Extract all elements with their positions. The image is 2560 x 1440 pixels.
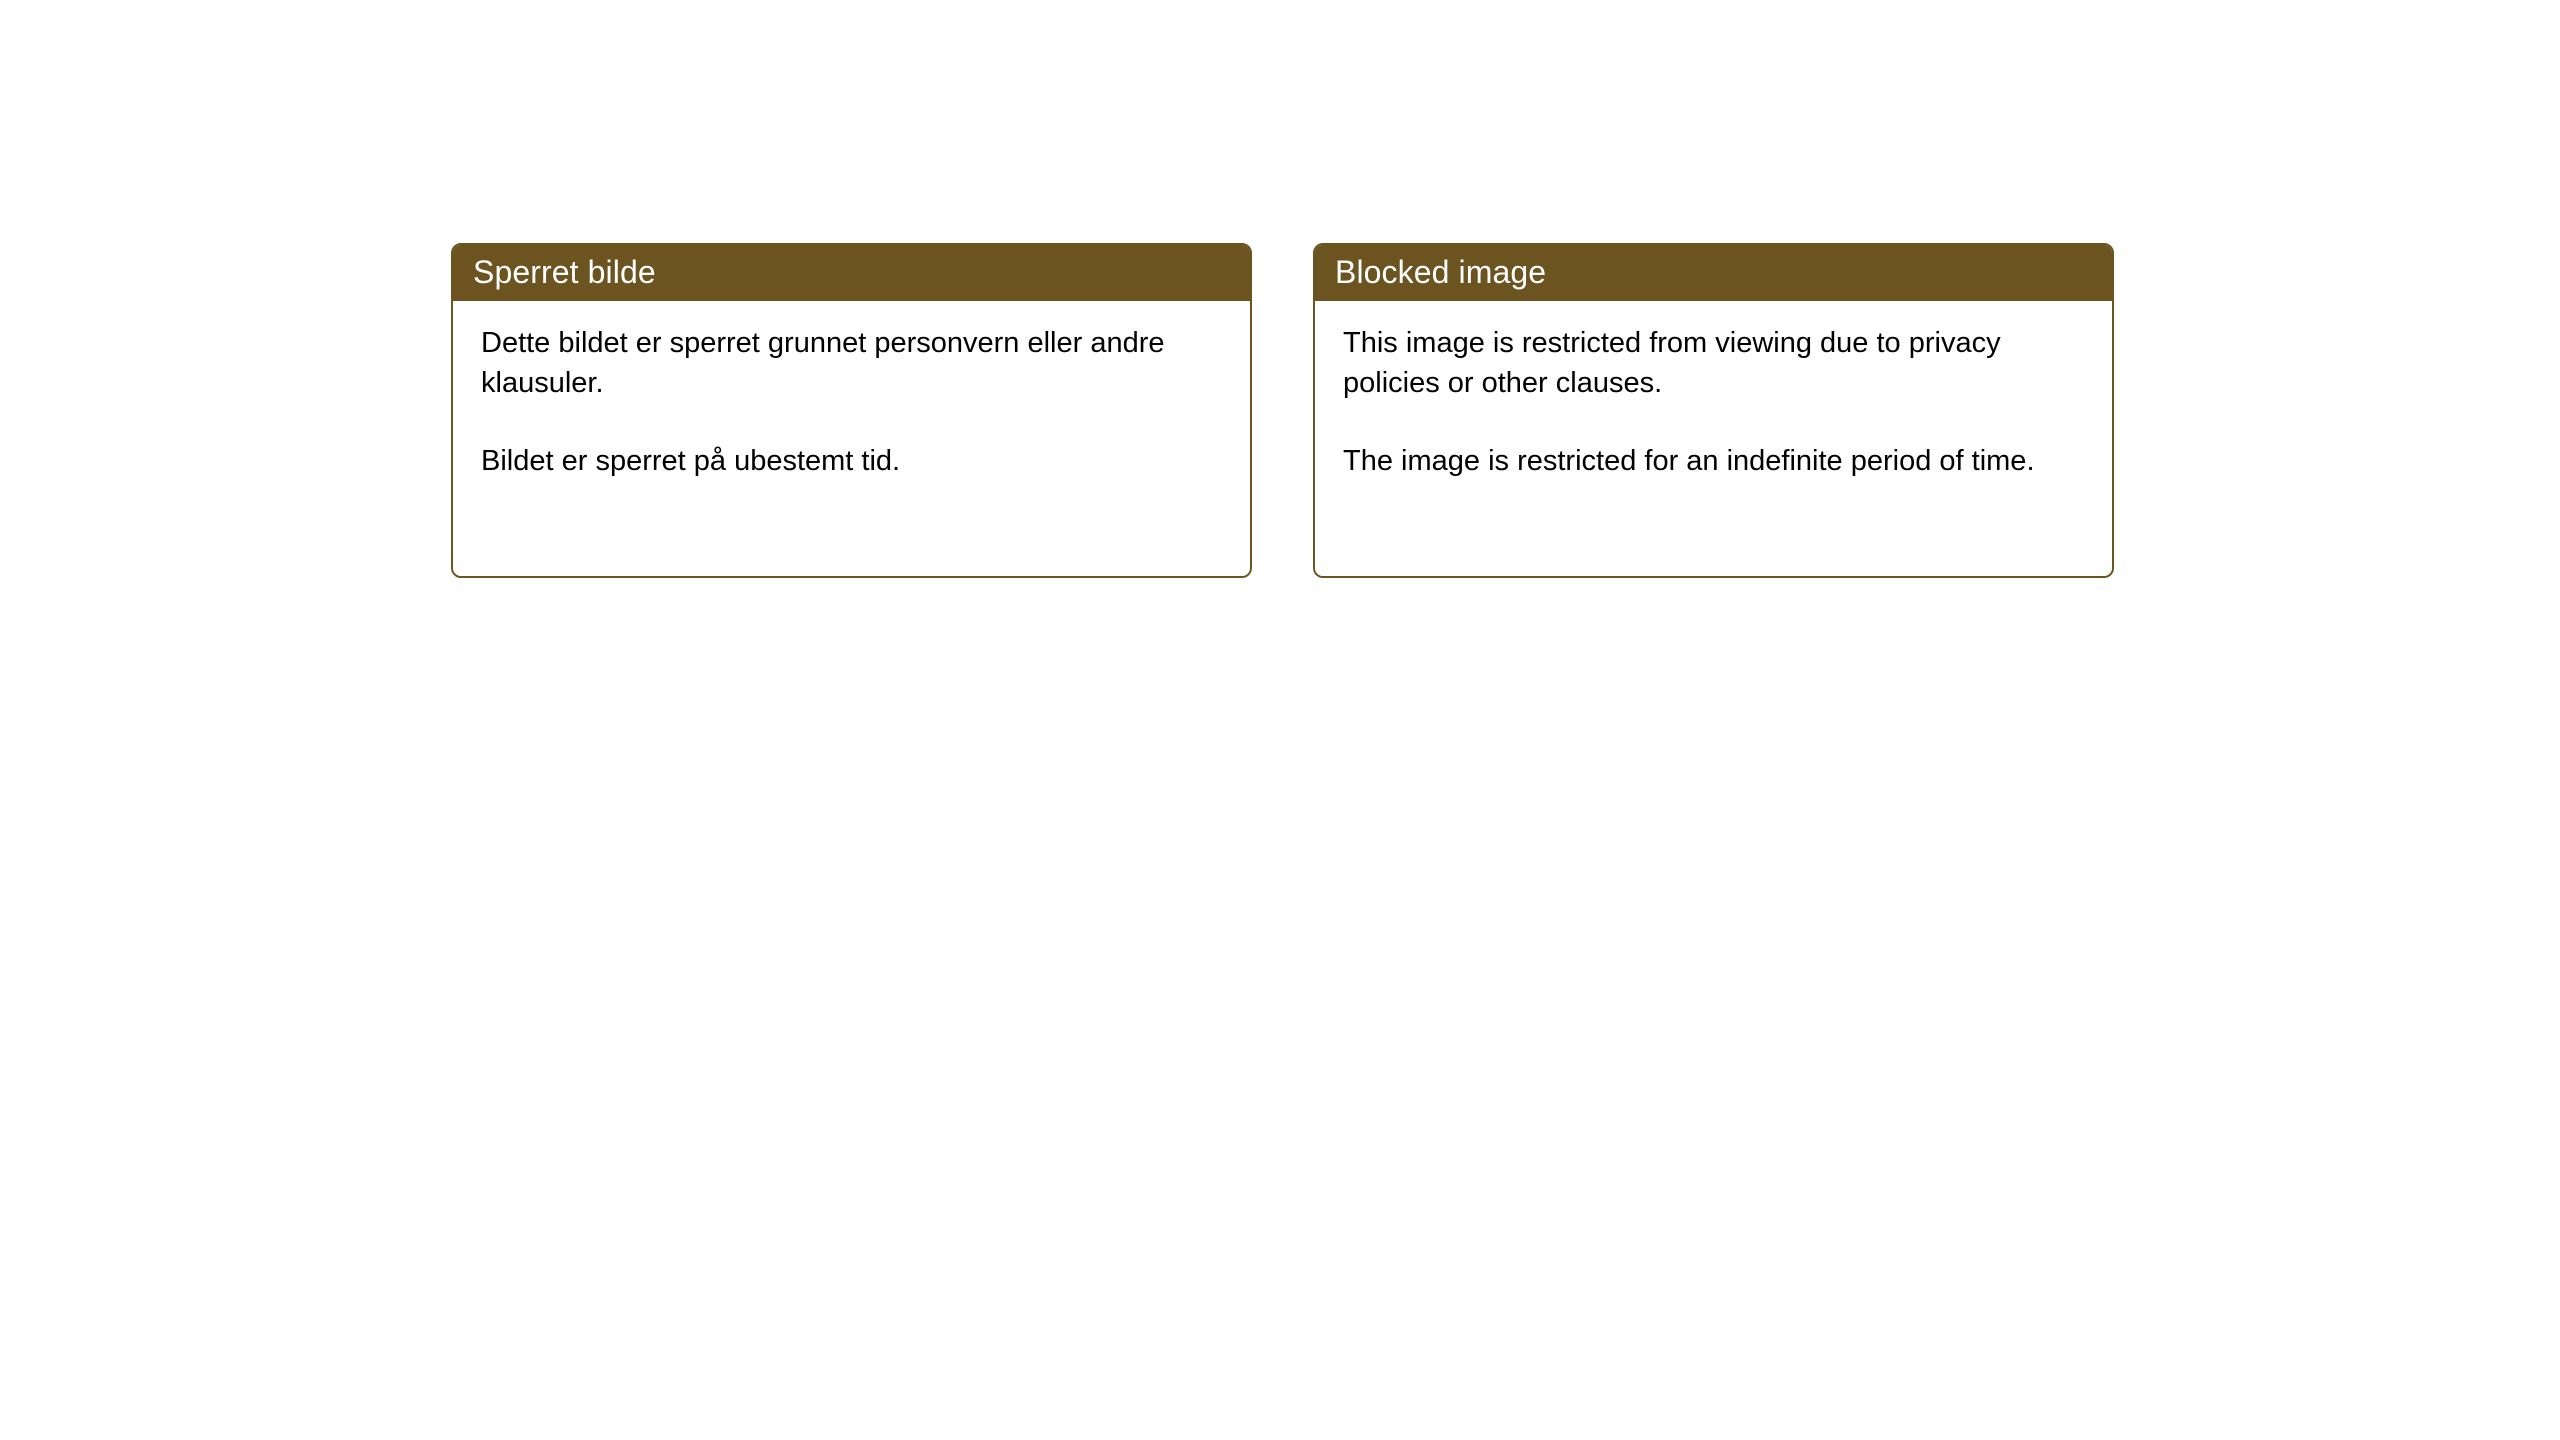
card-header-norwegian: Sperret bilde [451,243,1252,301]
blocked-image-card-english: Blocked image This image is restricted f… [1313,243,2114,578]
card-body-english: This image is restricted from viewing du… [1315,301,2112,576]
card-header-english: Blocked image [1313,243,2114,301]
card-paragraph-english-2: The image is restricted for an indefinit… [1343,441,2086,481]
card-title-norwegian: Sperret bilde [473,254,656,290]
blocked-image-notice-group: Sperret bilde Dette bildet er sperret gr… [451,243,2114,578]
card-paragraph-english-1: This image is restricted from viewing du… [1343,323,2086,403]
card-paragraph-norwegian-2: Bildet er sperret på ubestemt tid. [481,441,1224,481]
blocked-image-card-norwegian: Sperret bilde Dette bildet er sperret gr… [451,243,1252,578]
card-body-norwegian: Dette bildet er sperret grunnet personve… [453,301,1250,576]
card-title-english: Blocked image [1335,254,1546,290]
card-paragraph-norwegian-1: Dette bildet er sperret grunnet personve… [481,323,1224,403]
